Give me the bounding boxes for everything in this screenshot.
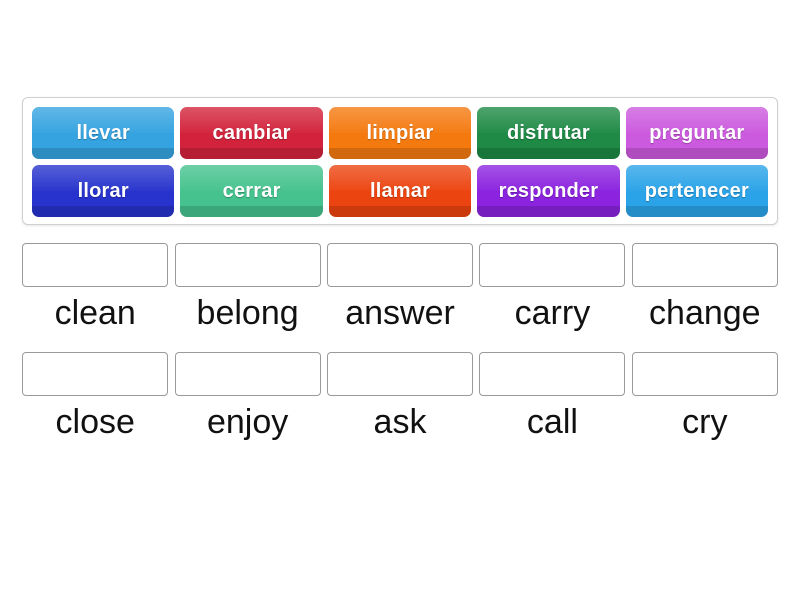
drop-slot[interactable] — [327, 243, 473, 287]
word-tile[interactable]: preguntar — [626, 107, 768, 159]
drop-slot[interactable] — [479, 352, 625, 396]
answer-word: answer — [345, 294, 455, 332]
answer-word: clean — [55, 294, 136, 332]
drop-slot[interactable] — [632, 243, 778, 287]
drop-slot[interactable] — [22, 243, 168, 287]
drop-slot[interactable] — [175, 243, 321, 287]
answer-item: belong — [174, 243, 320, 332]
word-tile[interactable]: cambiar — [180, 107, 322, 159]
word-tile[interactable]: llorar — [32, 165, 174, 217]
answer-row-2: close enjoy ask call cry — [22, 352, 778, 441]
tile-row-1: llevar cambiar limpiar disfrutar pregunt… — [32, 107, 768, 159]
answer-item: cry — [632, 352, 778, 441]
word-tile[interactable]: limpiar — [329, 107, 471, 159]
word-tile-bank: llevar cambiar limpiar disfrutar pregunt… — [22, 97, 778, 225]
tile-row-2: llorar cerrar llamar responder pertenece… — [32, 165, 768, 217]
word-tile-label: pertenecer — [645, 180, 749, 203]
answer-word: close — [56, 403, 135, 441]
word-tile-label: disfrutar — [507, 122, 590, 145]
drop-slot[interactable] — [22, 352, 168, 396]
word-tile-label: llorar — [78, 180, 129, 203]
answer-word: cry — [682, 403, 727, 441]
answer-item: change — [632, 243, 778, 332]
drop-slot[interactable] — [327, 352, 473, 396]
word-tile[interactable]: responder — [477, 165, 619, 217]
word-tile[interactable]: disfrutar — [477, 107, 619, 159]
answer-item: call — [479, 352, 625, 441]
answer-word: enjoy — [207, 403, 288, 441]
answer-item: clean — [22, 243, 168, 332]
answer-item: ask — [327, 352, 473, 441]
word-tile[interactable]: llamar — [329, 165, 471, 217]
answer-item: enjoy — [174, 352, 320, 441]
drop-slot[interactable] — [175, 352, 321, 396]
answer-row-1: clean belong answer carry change — [22, 243, 778, 332]
answer-word: change — [649, 294, 761, 332]
answer-word: carry — [515, 294, 591, 332]
word-tile-label: cambiar — [213, 122, 291, 145]
answer-word: ask — [374, 403, 427, 441]
word-tile-label: cerrar — [223, 180, 281, 203]
word-tile[interactable]: cerrar — [180, 165, 322, 217]
answer-word: belong — [197, 294, 299, 332]
answer-item: answer — [327, 243, 473, 332]
word-tile-label: llamar — [370, 180, 430, 203]
word-tile-label: llevar — [76, 122, 129, 145]
word-tile-label: limpiar — [367, 122, 434, 145]
activity-stage: llevar cambiar limpiar disfrutar pregunt… — [0, 0, 800, 600]
word-tile-label: preguntar — [649, 122, 744, 145]
word-tile[interactable]: pertenecer — [626, 165, 768, 217]
answer-word: call — [527, 403, 578, 441]
answer-grid: clean belong answer carry change c — [22, 243, 778, 461]
drop-slot[interactable] — [632, 352, 778, 396]
answer-item: carry — [479, 243, 625, 332]
drop-slot[interactable] — [479, 243, 625, 287]
word-tile[interactable]: llevar — [32, 107, 174, 159]
answer-item: close — [22, 352, 168, 441]
word-tile-label: responder — [499, 180, 599, 203]
